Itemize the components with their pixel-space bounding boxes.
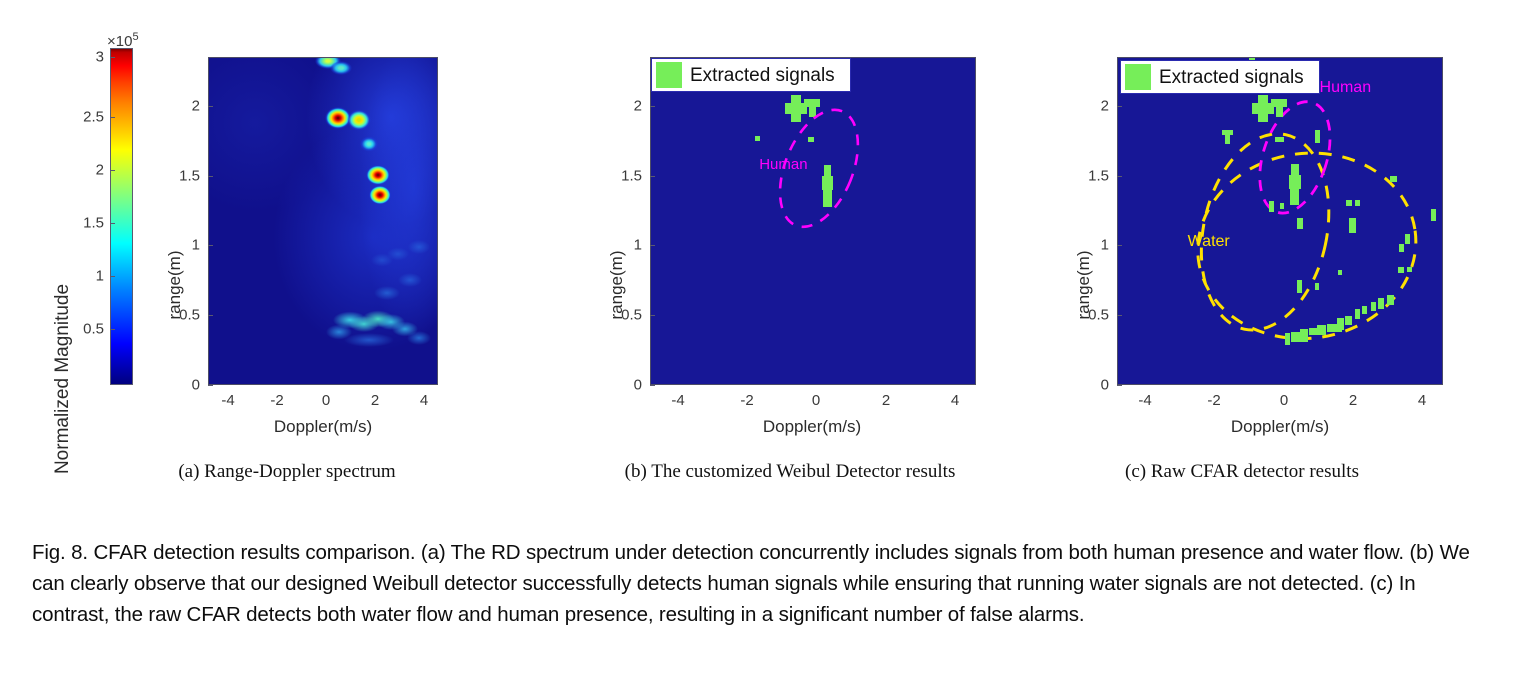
panel-c-xlabel: Doppler(m/s) <box>1231 417 1329 437</box>
legend-label: Extracted signals <box>1159 68 1304 87</box>
detection-cell <box>1309 328 1317 336</box>
figure-caption: Fig. 8. CFAR detection results compariso… <box>32 537 1490 630</box>
panel-b-xtick-0: -4 <box>671 392 684 409</box>
panel-c-ytickmark-0 <box>1117 385 1122 386</box>
detection-cell <box>822 176 833 190</box>
detection-cell <box>1349 218 1356 234</box>
panel-b-xtick-3: 2 <box>882 392 890 409</box>
panel-c-ytickmark-1 <box>1117 315 1122 316</box>
detection-cell <box>1315 283 1319 290</box>
panel-a-xtick-4: 4 <box>420 392 428 409</box>
panel-c-xtick-1: -2 <box>1207 392 1220 409</box>
detection-cell <box>823 190 832 207</box>
panel-a-xtick-3: 2 <box>371 392 379 409</box>
panel-c-human-annotation: Human <box>1320 79 1372 97</box>
panel-c-legend: Extracted signals <box>1120 60 1320 94</box>
panel-c-xtick-3: 2 <box>1349 392 1357 409</box>
colorbar-tick-0: 0.5 <box>74 321 104 338</box>
panel-c-subcaption: (c) Raw CFAR detector results <box>1125 461 1359 483</box>
detection-cell <box>1271 99 1287 107</box>
panel-a-xtick-1: -2 <box>270 392 283 409</box>
panel-a-ytick-4: 2 <box>170 98 200 115</box>
panel-c-ytickmark-3 <box>1117 176 1122 177</box>
panel-a-ytickmark-4 <box>208 106 213 107</box>
detection-cell <box>1258 114 1268 122</box>
panel-a-ytickmark-1 <box>208 315 213 316</box>
legend-swatch-icon <box>656 62 682 88</box>
panel-a-ytick-3: 1.5 <box>170 168 200 185</box>
detection-cell <box>1290 189 1299 205</box>
panel-a-ylabel: range(m) <box>165 251 185 320</box>
detection-cell <box>808 137 814 142</box>
panel-c-water-annotation: Water <box>1188 233 1230 251</box>
detection-cell <box>804 99 820 107</box>
panel-c-ytick-0: 0 <box>1079 377 1109 394</box>
detection-cell <box>1269 201 1274 212</box>
panel-a-plot-area <box>208 57 438 385</box>
legend-swatch-icon <box>1125 64 1151 90</box>
panel-a-xtick-2: 0 <box>322 392 330 409</box>
panel-b-ytick-0: 0 <box>612 377 642 394</box>
colorbar-tick-3: 2 <box>74 162 104 179</box>
panel-b-ytick-4: 2 <box>612 98 642 115</box>
panel-a-xtick-0: -4 <box>221 392 234 409</box>
panel-b-ytickmark-1 <box>650 315 655 316</box>
colorbar-tick-5: 3 <box>74 49 104 66</box>
detection-cell <box>1317 325 1326 335</box>
detection-cell <box>1371 302 1376 310</box>
panel-c-ytick-4: 2 <box>1079 98 1109 115</box>
detection-cell <box>1355 309 1361 320</box>
legend-label: Extracted signals <box>690 66 835 85</box>
detection-cell <box>1289 175 1301 189</box>
detection-cell <box>824 165 831 176</box>
colorbar-tick-2: 1.5 <box>74 215 104 232</box>
colorbar-tick-1: 1 <box>74 268 104 285</box>
detection-cell <box>1346 200 1352 206</box>
colorbar-gradient <box>110 48 133 385</box>
panel-b-xlabel: Doppler(m/s) <box>763 417 861 437</box>
colorbar-tickmark-4 <box>110 117 115 118</box>
detection-cell <box>1291 164 1299 176</box>
panel-b-ylabel: range(m) <box>607 251 627 320</box>
panel-b-ytick-3: 1.5 <box>612 168 642 185</box>
range-doppler-heatmap <box>209 58 437 384</box>
panel-c-ytickmark-4 <box>1117 106 1122 107</box>
colorbar-exponent-value: 5 <box>132 31 138 43</box>
panel-b-subcaption: (b) The customized Weibul Detector resul… <box>625 461 956 483</box>
detection-cell <box>1405 234 1411 243</box>
detection-cell <box>1387 295 1394 305</box>
detection-cell <box>1378 298 1384 309</box>
detection-cell <box>1297 280 1302 293</box>
colorbar-axis-label: Normalized Magnitude <box>52 284 74 474</box>
detection-cell <box>1291 332 1302 341</box>
panel-b-ytickmark-3 <box>650 176 655 177</box>
colorbar-tickmark-5 <box>110 57 115 58</box>
colorbar-tickmark-0 <box>110 329 115 330</box>
panel-c-ytickmark-2 <box>1117 245 1122 246</box>
water-ellipse-left <box>1184 122 1346 342</box>
detection-cell <box>1225 135 1230 144</box>
panel-c-ytick-3: 1.5 <box>1079 168 1109 185</box>
panel-a-ytick-0: 0 <box>170 377 200 394</box>
detection-cell <box>1285 333 1291 345</box>
colorbar-tickmark-1 <box>110 276 115 277</box>
panel-a-ytickmark-3 <box>208 176 213 177</box>
detection-cell <box>1275 137 1283 142</box>
detection-cell <box>1355 200 1361 206</box>
detection-cell <box>1407 267 1412 273</box>
detection-cell <box>1345 316 1351 325</box>
detection-cell <box>1431 209 1436 221</box>
panel-b-ytickmark-2 <box>650 245 655 246</box>
panel-a-xlabel: Doppler(m/s) <box>274 417 372 437</box>
panel-c-xtick-4: 4 <box>1418 392 1426 409</box>
detection-cell <box>1315 130 1320 143</box>
detection-cell <box>791 114 801 122</box>
panel-b-human-annotation: Human <box>759 156 807 173</box>
panel-b-xtick-4: 4 <box>951 392 959 409</box>
detection-cell <box>1327 324 1342 332</box>
colorbar-tick-4: 2.5 <box>74 109 104 126</box>
panel-c-ylabel: range(m) <box>1074 251 1094 320</box>
panel-b-xtick-1: -2 <box>740 392 753 409</box>
panel-c-plot-area: Human Water Extracted signals <box>1117 57 1443 385</box>
detection-cell <box>1280 203 1285 209</box>
panel-b-plot-area: Human Extracted signals <box>650 57 976 385</box>
detection-cell <box>1390 176 1397 182</box>
detection-cell <box>1399 244 1404 252</box>
panel-a-ytickmark-0 <box>208 385 213 386</box>
detection-cell <box>755 136 760 141</box>
colorbar-tickmark-2 <box>110 223 115 224</box>
panel-b-ytickmark-4 <box>650 106 655 107</box>
detection-cell <box>1362 306 1367 314</box>
colorbar-tickmark-3 <box>110 170 115 171</box>
panel-a-ytickmark-2 <box>208 245 213 246</box>
panel-c-xtick-2: 0 <box>1280 392 1288 409</box>
panel-b-ytickmark-0 <box>650 385 655 386</box>
panel-a-subcaption: (a) Range-Doppler spectrum <box>178 461 395 483</box>
detection-cell <box>1338 270 1343 275</box>
panel-b-legend: Extracted signals <box>651 58 851 92</box>
panel-c-xtick-0: -4 <box>1138 392 1151 409</box>
detection-cell <box>1297 218 1303 230</box>
figure-8-container: Normalized Magnitude ×105 0.5 1 1.5 2 2.… <box>0 0 1518 694</box>
detection-cell <box>1398 267 1404 273</box>
panel-b-xtick-2: 0 <box>812 392 820 409</box>
